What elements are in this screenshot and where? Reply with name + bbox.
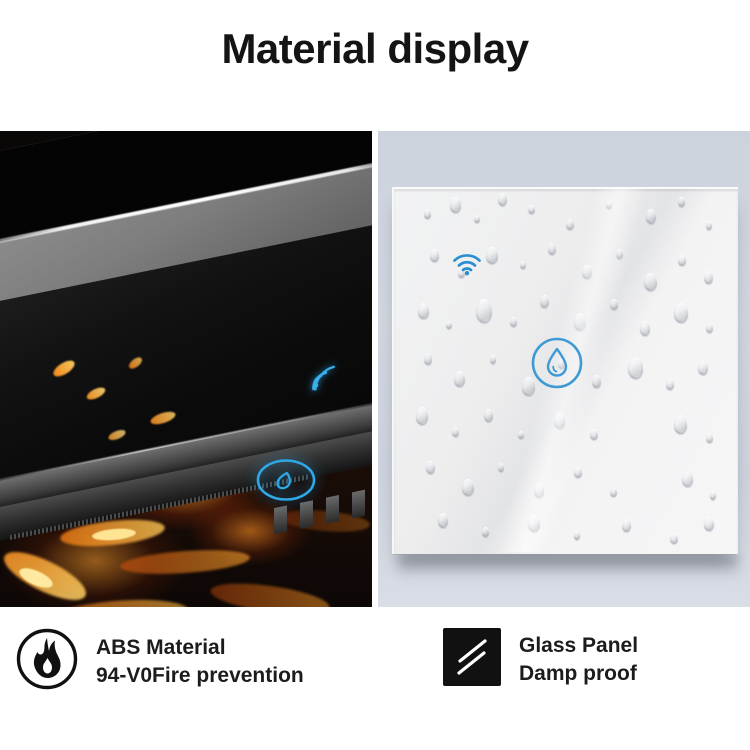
water-droplet xyxy=(424,353,432,365)
water-droplet xyxy=(476,299,492,323)
water-droplet xyxy=(574,313,586,331)
water-droplet xyxy=(628,357,643,379)
water-droplet xyxy=(510,317,517,327)
water-droplet xyxy=(590,429,598,440)
water-droplet xyxy=(518,431,524,439)
water-droplet xyxy=(706,323,713,333)
water-droplet xyxy=(534,483,544,498)
water-droplet xyxy=(528,205,535,214)
water-droplet xyxy=(582,265,592,279)
water-droplet xyxy=(706,433,713,443)
caption-line-1: ABS Material xyxy=(96,634,304,662)
water-droplet xyxy=(486,247,498,264)
water-droplet xyxy=(610,299,618,310)
panel-drop-shadow xyxy=(398,555,738,577)
water-droplet xyxy=(710,491,716,500)
water-droplet xyxy=(592,375,601,388)
water-droplet xyxy=(498,193,507,206)
water-droplet xyxy=(670,533,678,544)
wifi-icon xyxy=(452,252,482,276)
water-droplet xyxy=(574,531,580,540)
caption-text: Glass Panel Damp proof xyxy=(519,632,638,687)
caption-text: ABS Material 94-V0Fire prevention xyxy=(96,634,304,689)
fire-circle-icon xyxy=(16,628,78,695)
water-droplet xyxy=(430,249,439,262)
water-droplet xyxy=(610,487,617,497)
water-droplet xyxy=(450,197,461,213)
water-droplet xyxy=(606,201,612,209)
water-droplet xyxy=(706,221,712,230)
water-droplet xyxy=(704,271,713,284)
photo-water-panel xyxy=(378,131,750,607)
water-droplet xyxy=(528,515,540,532)
water-droplet xyxy=(498,463,504,472)
water-droplet xyxy=(666,379,674,390)
water-droplet xyxy=(474,215,480,223)
water-droplet xyxy=(452,427,459,437)
water-droplet xyxy=(438,513,448,528)
water-droplet xyxy=(424,209,431,219)
water-droplet xyxy=(416,407,428,425)
water-droplet xyxy=(678,255,686,266)
water-droplet xyxy=(674,303,688,323)
caption-line-2: Damp proof xyxy=(519,660,638,688)
water-droplet xyxy=(646,209,656,224)
water-droplet xyxy=(704,517,714,531)
water-droplet xyxy=(574,467,582,478)
water-droplet xyxy=(454,371,465,387)
water-droplet xyxy=(520,261,526,269)
page-title: Material display xyxy=(0,28,750,70)
water-drop-button-icon[interactable] xyxy=(530,336,584,390)
photo-fire-panel xyxy=(0,131,372,607)
product-feature-graphic: Material display xyxy=(0,0,750,750)
water-droplet xyxy=(698,361,708,375)
water-droplet xyxy=(616,249,623,259)
caption-glass-panel: Glass Panel Damp proof xyxy=(443,628,638,691)
water-droplet xyxy=(540,295,549,308)
water-droplet xyxy=(566,219,574,230)
water-droplet xyxy=(622,519,631,532)
water-droplet xyxy=(554,413,565,429)
water-droplet xyxy=(674,415,687,434)
caption-abs-material: ABS Material 94-V0Fire prevention xyxy=(16,628,304,695)
water-droplet xyxy=(682,471,693,487)
caption-line-2: 94-V0Fire prevention xyxy=(96,662,304,690)
photo-row xyxy=(0,131,750,607)
water-droplet xyxy=(548,243,556,255)
water-droplet xyxy=(418,303,429,319)
water-droplet xyxy=(482,527,489,537)
page-title-container: Material display xyxy=(0,28,750,70)
water-droplet xyxy=(678,197,685,207)
water-drop-button-icon[interactable] xyxy=(255,457,317,503)
feature-captions: ABS Material 94-V0Fire prevention Glass … xyxy=(0,628,750,728)
water-droplet xyxy=(640,321,650,336)
water-droplet xyxy=(644,273,657,291)
water-droplet xyxy=(484,409,493,422)
water-droplet xyxy=(426,461,435,474)
water-droplet xyxy=(490,355,496,364)
water-droplet xyxy=(446,321,452,329)
caption-line-1: Glass Panel xyxy=(519,632,638,660)
glass-shine-icon xyxy=(443,628,501,691)
water-droplet xyxy=(462,479,474,496)
